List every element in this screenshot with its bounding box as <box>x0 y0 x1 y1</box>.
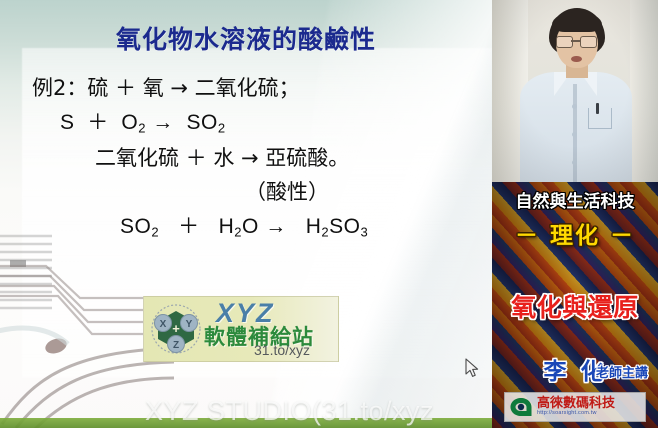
slide-line-3: 二氧化硫 ＋ 水 → 亞硫酸。 <box>0 148 492 169</box>
xyz-emblem-icon: X Y Z + <box>150 303 202 355</box>
slide-body: 例2：硫 ＋ 氧 → 二氧化硫； S ＋ O2 → SO2 二氧化硫 ＋ 水 →… <box>0 78 492 251</box>
presentation-slide: 氧化物水溶液的酸鹼性 例2：硫 ＋ 氧 → 二氧化硫； S ＋ O2 → SO2… <box>0 0 492 428</box>
eq5-reactant-a-sub: 2 <box>151 224 159 239</box>
slide-title: 氧化物水溶液的酸鹼性 <box>0 20 492 56</box>
mouse-cursor-icon <box>465 358 479 378</box>
studio-overlay-text: XYZ STUDIO(31.to/xyz <box>145 396 434 427</box>
svg-text:X: X <box>160 319 167 330</box>
eq2-arrow: → <box>152 111 174 134</box>
eq5-product-2: SO <box>329 215 360 238</box>
eq2-reactant-a: S <box>60 111 75 134</box>
eq5-arrow: → <box>265 215 287 238</box>
publisher-mark-icon <box>508 396 534 418</box>
course-subject-label: 自然與生活科技 <box>492 187 658 212</box>
eq2-product-sub: 2 <box>218 121 226 136</box>
eq5-product-2-sub: 3 <box>361 224 369 239</box>
slide-line-1: 例2：硫 ＋ 氧 → 二氧化硫； <box>0 78 492 99</box>
publisher-name: 高徠數碼科技 <box>537 397 615 410</box>
eq5-reactant-a: SO <box>120 215 151 238</box>
eq2-reactant-b: O <box>121 111 138 134</box>
eq5-reactant-b2: O <box>242 215 259 238</box>
publisher-logo[interactable]: 高徠數碼科技 http://soarsight.com.tw <box>504 392 646 422</box>
lecturer-role-label: 老師主講 <box>596 362 648 381</box>
eq2-plus: ＋ <box>87 111 109 134</box>
svg-text:+: + <box>172 321 180 336</box>
lecturer-video-feed[interactable] <box>492 0 658 182</box>
xyz-url-text: 31.to/xyz <box>254 342 310 358</box>
course-track-label: － 理化 － <box>492 216 658 250</box>
svg-text:Y: Y <box>186 319 193 330</box>
eq5-product-sub: 2 <box>321 224 329 239</box>
xyz-watermark-logo: X Y Z + XYZ 軟體補給站 31.to/xyz <box>143 296 339 362</box>
svg-text:Z: Z <box>173 340 179 351</box>
eq5-reactant-b: H <box>219 215 235 238</box>
course-info-panel: 自然與生活科技 － 理化 － 氧化與還原 李 化 老師主講 高徠數碼科技 htt… <box>492 182 658 428</box>
course-topic-label: 氧化與還原 <box>492 288 658 324</box>
eq5-reactant-b-sub: 2 <box>234 224 242 239</box>
right-column: 自然與生活科技 － 理化 － 氧化與還原 李 化 老師主講 高徠數碼科技 htt… <box>492 0 658 428</box>
slide-line-4-acidity-note: （酸性） <box>0 182 492 203</box>
eq2-reactant-b-sub: 2 <box>138 121 146 136</box>
video-vignette-overlay <box>492 0 658 182</box>
publisher-url: http://soarsight.com.tw <box>537 411 615 417</box>
eq5-product: H <box>306 215 322 238</box>
eq5-plus: ＋ <box>178 215 200 238</box>
publisher-text-block: 高徠數碼科技 http://soarsight.com.tw <box>537 397 615 417</box>
eq2-product: SO <box>186 111 217 134</box>
video-lecture-player: 氧化物水溶液的酸鹼性 例2：硫 ＋ 氧 → 二氧化硫； S ＋ O2 → SO2… <box>0 0 658 428</box>
slide-line-2: S ＋ O2 → SO2 <box>0 112 492 135</box>
slide-line-5: SO2 ＋ H2O → H2SO3 <box>0 216 492 239</box>
